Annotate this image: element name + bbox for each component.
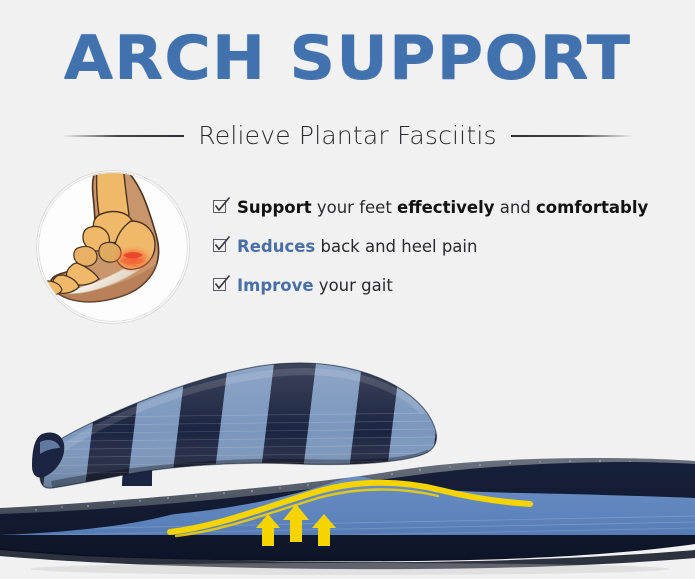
divider-left xyxy=(62,135,184,137)
flip-flop-illustration xyxy=(0,330,695,579)
checkbox-checked-icon xyxy=(213,278,228,293)
foot-anatomy-icon xyxy=(37,171,189,323)
benefits-list: Support your feet effectively and comfor… xyxy=(213,197,683,314)
foot-anatomy-illustration xyxy=(36,170,190,324)
list-item: Improve your gait xyxy=(213,275,683,296)
list-item: Support your feet effectively and comfor… xyxy=(213,197,683,218)
divider-right xyxy=(511,135,633,137)
benefit-text: Reduces back and heel pain xyxy=(237,236,477,257)
subtitle-row: Relieve Plantar Fasciitis xyxy=(0,117,695,155)
page-subtitle: Relieve Plantar Fasciitis xyxy=(198,121,496,151)
checkbox-checked-icon xyxy=(213,200,228,215)
benefit-text: Support your feet effectively and comfor… xyxy=(237,197,648,218)
benefit-text: Improve your gait xyxy=(237,275,393,296)
checkbox-checked-icon xyxy=(213,239,228,254)
page-title: ARCH SUPPORT xyxy=(0,26,695,90)
product-image xyxy=(0,330,695,579)
marketing-banner: ARCH SUPPORT Relieve Plantar Fasciitis xyxy=(0,0,695,579)
list-item: Reduces back and heel pain xyxy=(213,236,683,257)
